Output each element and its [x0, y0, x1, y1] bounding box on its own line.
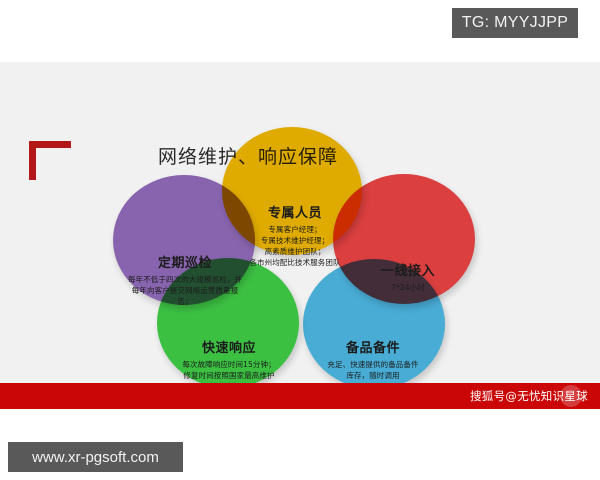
- slide-canvas: 网络维护、响应保障 专属人员 专属客户经理； 专属技术维护经理； 高素质维护团队…: [0, 62, 600, 408]
- footer-stamp-icon: [560, 385, 582, 407]
- footer-red-band: 搜狐号@无忧知识星球: [0, 383, 600, 409]
- top-watermark-tag: TG: MYYJJPP: [452, 8, 578, 38]
- venn-lobe-fast-response: [157, 258, 299, 388]
- venn-diagram: 专属人员 专属客户经理； 专属技术维护经理； 高素质维护团队； 各市州均配比技术…: [0, 62, 600, 408]
- bottom-url-watermark: www.xr-pgsoft.com: [8, 442, 183, 472]
- venn-lobe-spare-parts: [303, 259, 445, 389]
